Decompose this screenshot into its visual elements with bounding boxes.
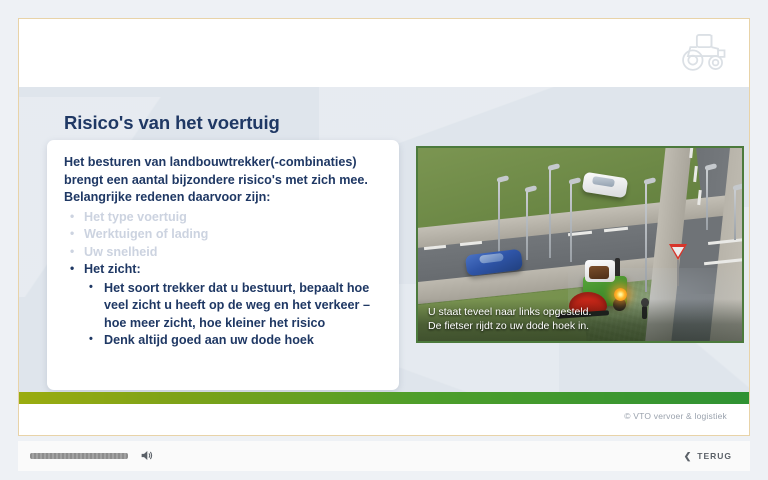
progress-bar[interactable]: [30, 453, 128, 459]
caption-line-1: U staat teveel naar links opgesteld.: [428, 305, 732, 319]
slide-body: Risico's van het voertuig Het besturen v…: [19, 87, 749, 404]
tractor-icon: [679, 29, 731, 75]
photo-caption: U staat teveel naar links opgesteld. De …: [418, 299, 742, 341]
copyright-text: © VTO vervoer & logistiek: [624, 411, 727, 421]
bullet-list-level1: Het type voertuig Werktuigen of lading U…: [64, 209, 383, 279]
back-button[interactable]: ❮ TERUG: [678, 446, 738, 466]
list-item: Werktuigen of lading: [64, 226, 383, 244]
intro-paragraph: Het besturen van landbouwtrekker(-combin…: [64, 154, 383, 207]
volume-button[interactable]: [138, 447, 155, 464]
list-item: Denk altijd goed aan uw dode hoek: [82, 332, 383, 350]
list-item: Het soort trekker dat u bestuurt, bepaal…: [82, 280, 383, 333]
lamp-post: [734, 190, 736, 240]
list-item: Uw snelheid: [64, 244, 383, 262]
list-item: Het zicht:: [64, 261, 383, 279]
player-bar: ❮ TERUG: [18, 441, 750, 471]
lamp-post: [645, 184, 647, 292]
green-accent-bar: [19, 392, 749, 404]
progress-bar-fill: [30, 453, 128, 459]
lamp-post: [706, 170, 708, 230]
bullet-list-level2: Het soort trekker dat u bestuurt, bepaal…: [64, 280, 383, 350]
grass-corner-top-right: [743, 146, 744, 240]
yield-sign-inner: [672, 247, 684, 257]
page-title: Risico's van het voertuig: [64, 112, 280, 134]
scene-photo: U staat teveel naar links opgesteld. De …: [416, 146, 744, 343]
slide-footer: © VTO vervoer & logistiek: [19, 404, 749, 435]
slide: Risico's van het voertuig Het besturen v…: [18, 18, 750, 436]
slide-header: [19, 19, 749, 87]
content-card: Het besturen van landbouwtrekker(-combin…: [47, 140, 399, 390]
chevron-left-icon: ❮: [684, 451, 693, 462]
speaker-icon: [140, 449, 153, 462]
back-button-label: TERUG: [697, 451, 732, 461]
caption-line-2: De fietser rijdt zo uw dode hoek in.: [428, 319, 732, 333]
lamp-post: [526, 192, 528, 260]
screen: Risico's van het voertuig Het besturen v…: [0, 0, 768, 480]
lamp-post: [549, 170, 551, 258]
lamp-post: [570, 184, 572, 262]
tractor-cab-window: [589, 266, 609, 279]
list-item: Het type voertuig: [64, 209, 383, 227]
lamp-post: [498, 182, 500, 254]
yield-sign-pole: [677, 260, 679, 286]
